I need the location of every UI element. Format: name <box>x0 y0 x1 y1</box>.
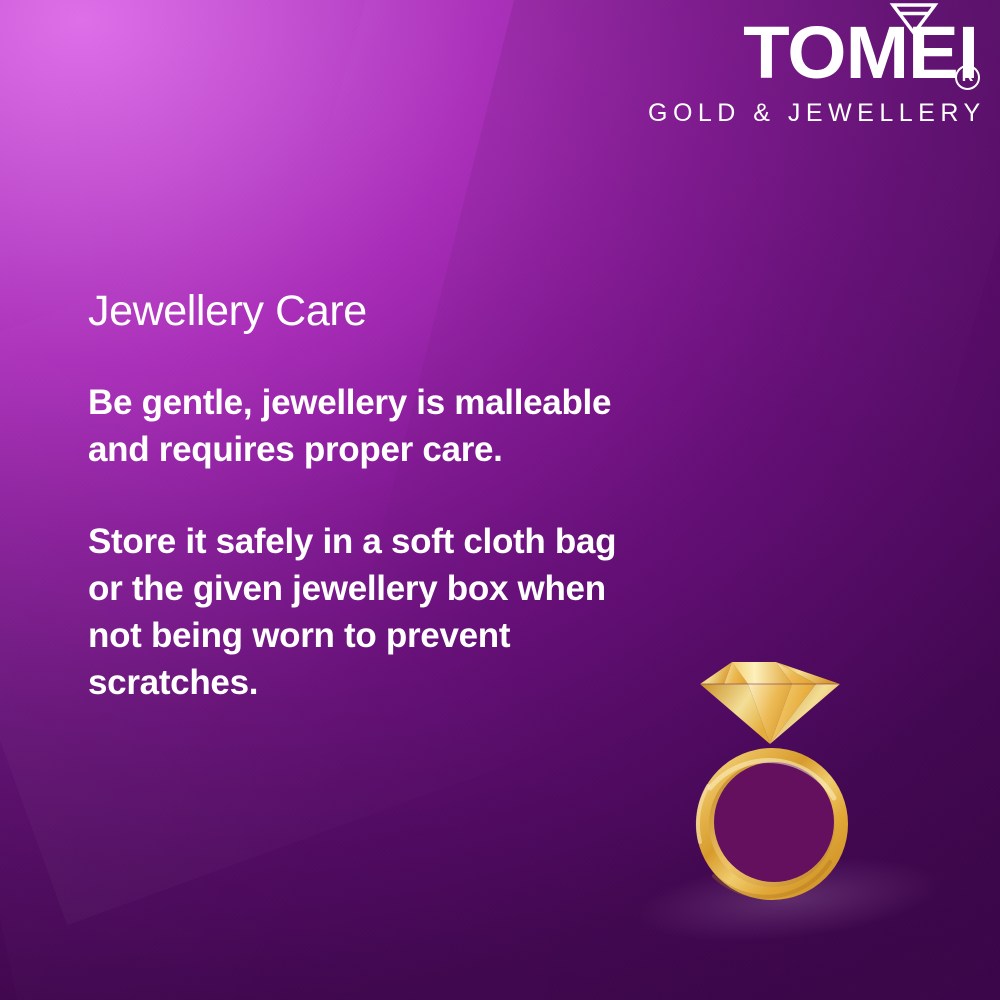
tomei-logo: TOMEI R GOLD & JEWELLERY <box>648 14 978 128</box>
page-title: Jewellery Care <box>88 288 688 335</box>
body-paragraph-1: Be gentle, jewellery is malleable and re… <box>88 379 648 473</box>
logo-wordmark-text: TOMEI <box>743 14 978 92</box>
logo-wordmark-row: TOMEI R <box>648 14 978 92</box>
gold-ring-icon <box>696 748 848 900</box>
body-paragraph-2: Store it safely in a soft cloth bag or t… <box>88 518 648 706</box>
diamond-ring-illustration <box>688 636 888 906</box>
gold-diamond-icon <box>700 662 840 744</box>
registered-trademark-icon: R <box>955 65 980 90</box>
logo-tagline: GOLD & JEWELLERY <box>648 99 978 128</box>
jewellery-care-poster: TOMEI R GOLD & JEWELLERY Jewellery Care … <box>0 0 1000 1000</box>
copy-block: Jewellery Care Be gentle, jewellery is m… <box>88 288 688 706</box>
